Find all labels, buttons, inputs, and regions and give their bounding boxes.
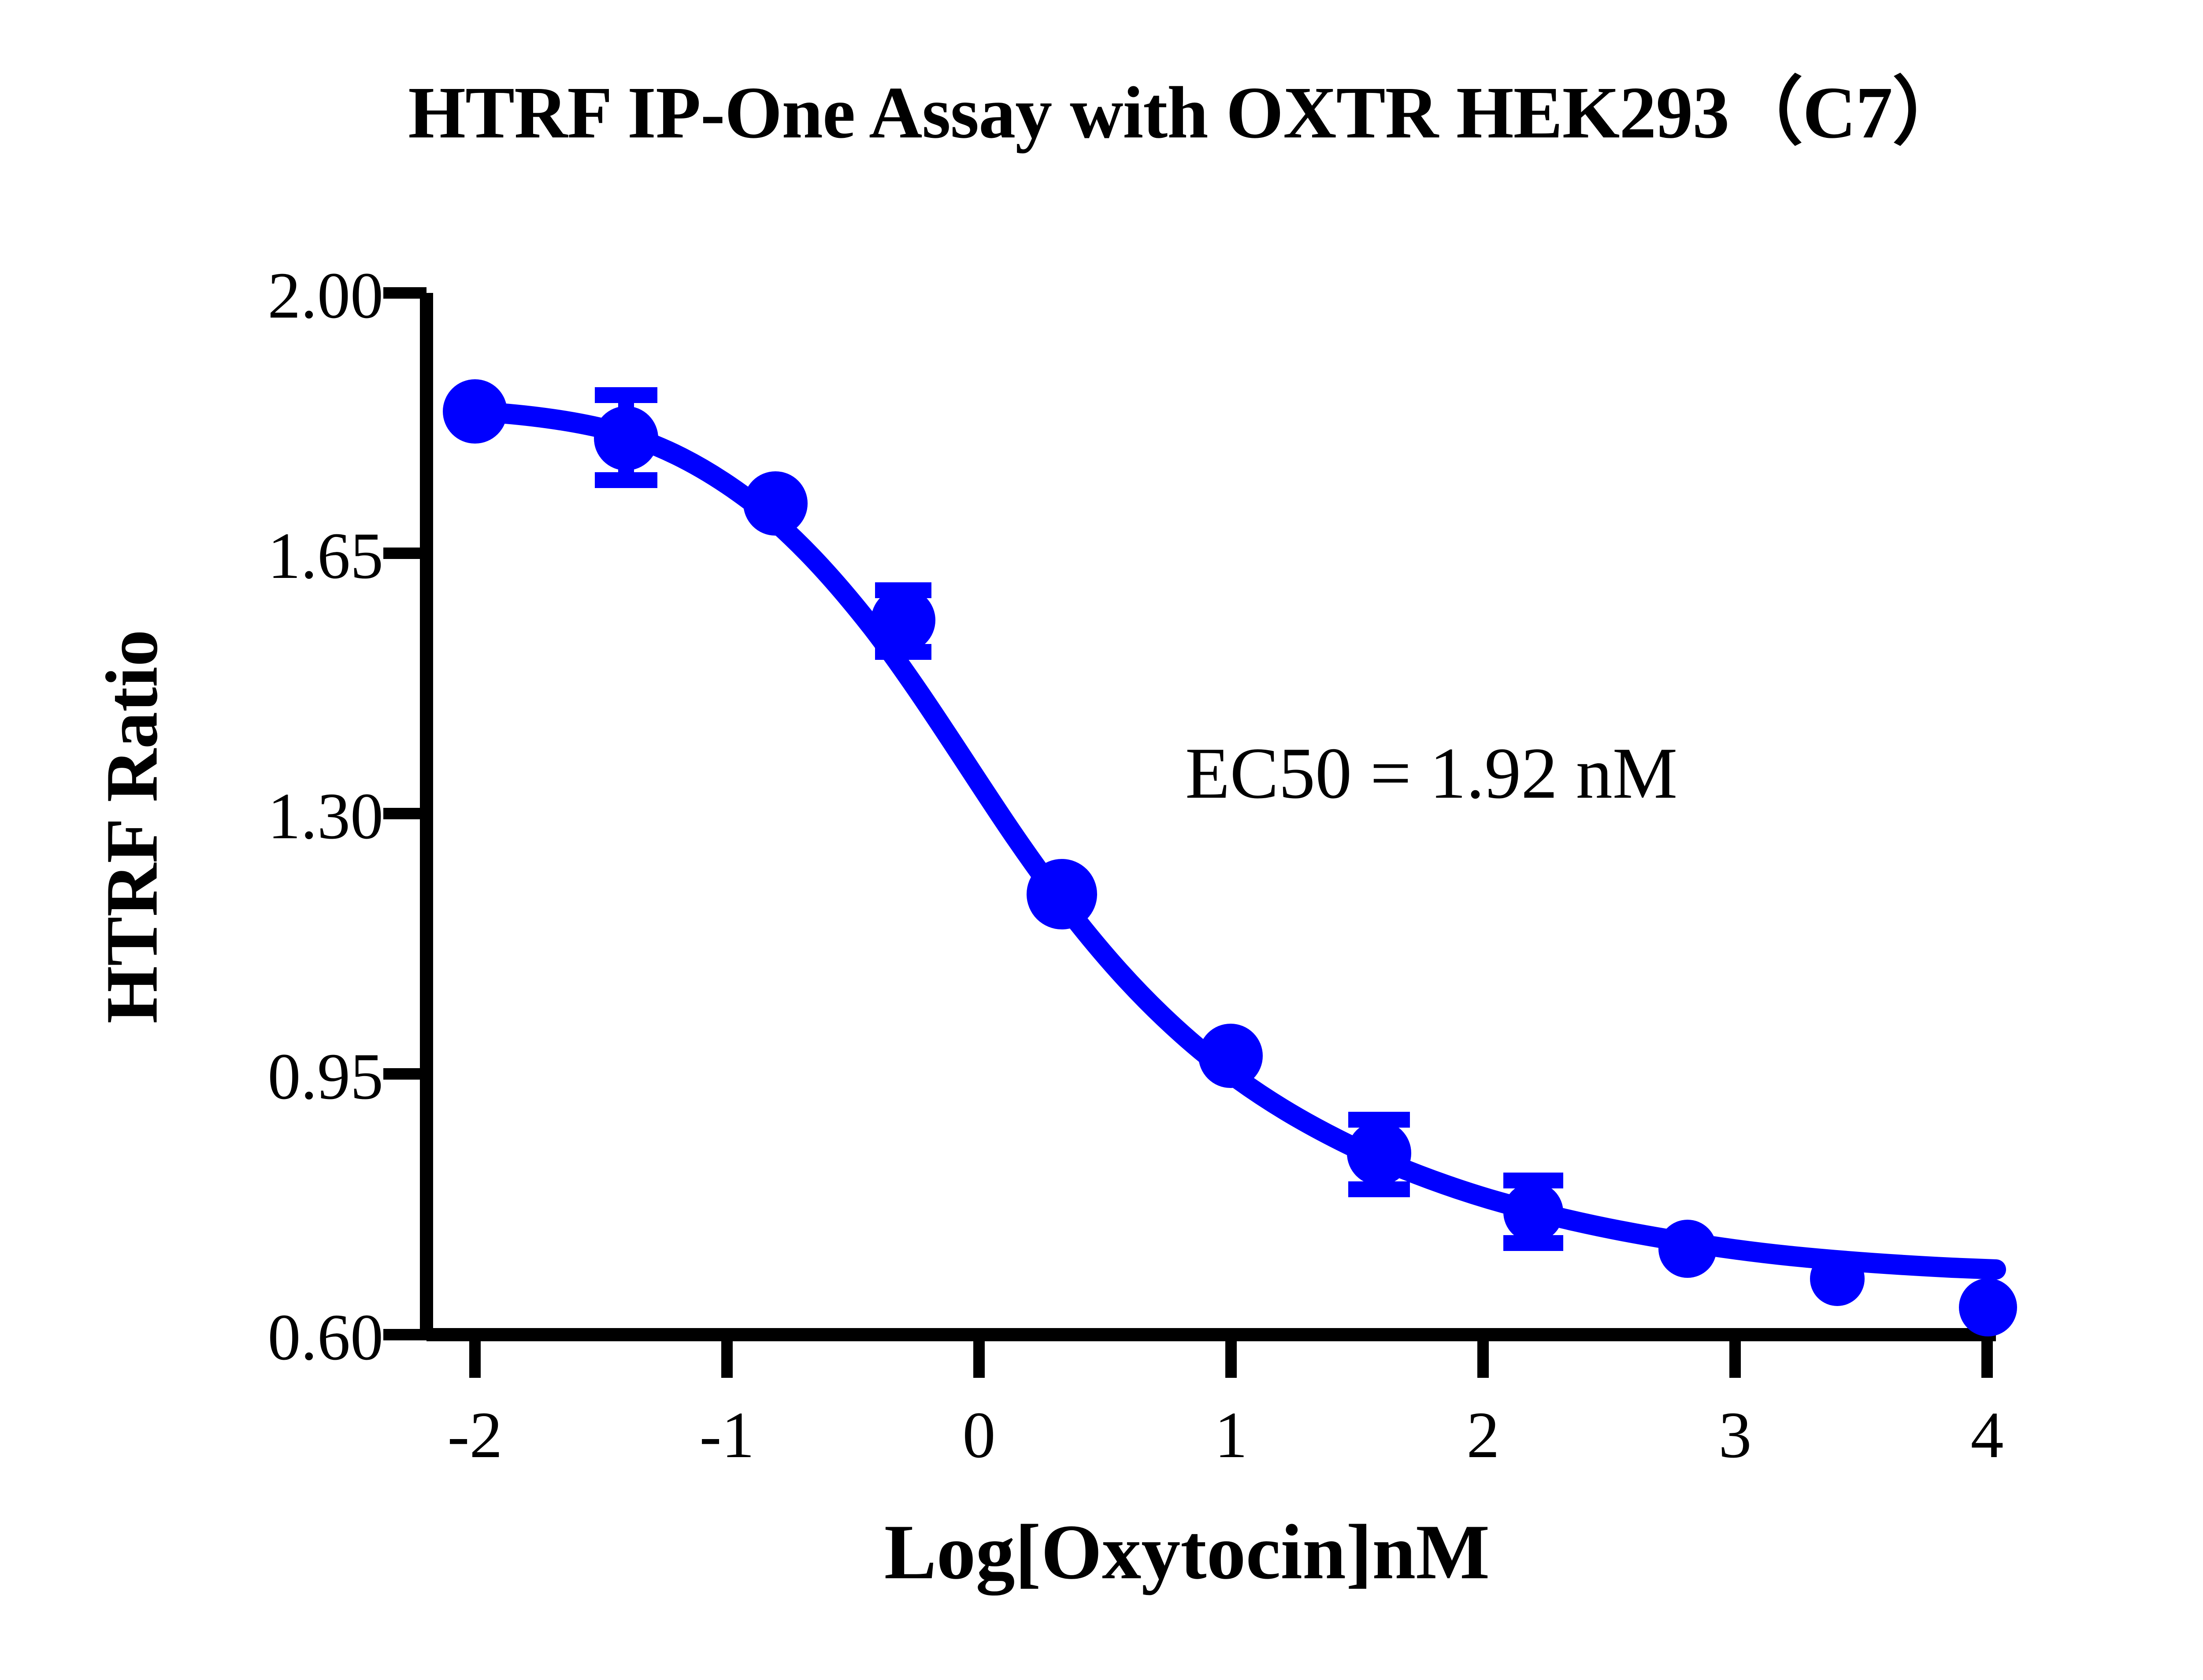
data-point bbox=[443, 379, 507, 444]
x-tick-label-2: 2 bbox=[1395, 1397, 1571, 1473]
ec50-annotation: EC50 = 1.92 nM bbox=[1185, 731, 1677, 815]
x-tick-label-neg1: -1 bbox=[639, 1397, 815, 1473]
data-point bbox=[1503, 1182, 1563, 1242]
x-tick-label-3: 3 bbox=[1647, 1397, 1823, 1473]
y-tick-label-2-00: 2.00 bbox=[101, 258, 383, 333]
x-tick-label-0: 0 bbox=[891, 1397, 1067, 1473]
data-point bbox=[1810, 1251, 1865, 1306]
data-point bbox=[1959, 1278, 2017, 1336]
x-tick-label-1: 1 bbox=[1143, 1397, 1319, 1473]
data-point bbox=[1198, 1024, 1263, 1088]
data-point bbox=[1347, 1121, 1411, 1185]
data-point bbox=[1027, 859, 1097, 929]
data-point bbox=[1658, 1220, 1717, 1278]
x-axis-title: Log[Oxytocin]nM bbox=[0, 1506, 2203, 1597]
data-point bbox=[743, 471, 808, 536]
x-tick-label-neg2: -2 bbox=[387, 1397, 563, 1473]
error-bars bbox=[595, 395, 1563, 1243]
y-tick-label-0-60: 0.60 bbox=[101, 1299, 383, 1375]
chart-figure: HTRF IP-One Assay with OXTR HEK293（C7） bbox=[0, 0, 2203, 1680]
x-tick-label-4: 4 bbox=[1899, 1397, 2075, 1473]
y-axis-title: HTRF Ratio bbox=[90, 474, 175, 1179]
data-points bbox=[443, 379, 2017, 1336]
fit-curve bbox=[475, 411, 1996, 1269]
data-point bbox=[594, 406, 658, 470]
data-point bbox=[871, 588, 935, 652]
